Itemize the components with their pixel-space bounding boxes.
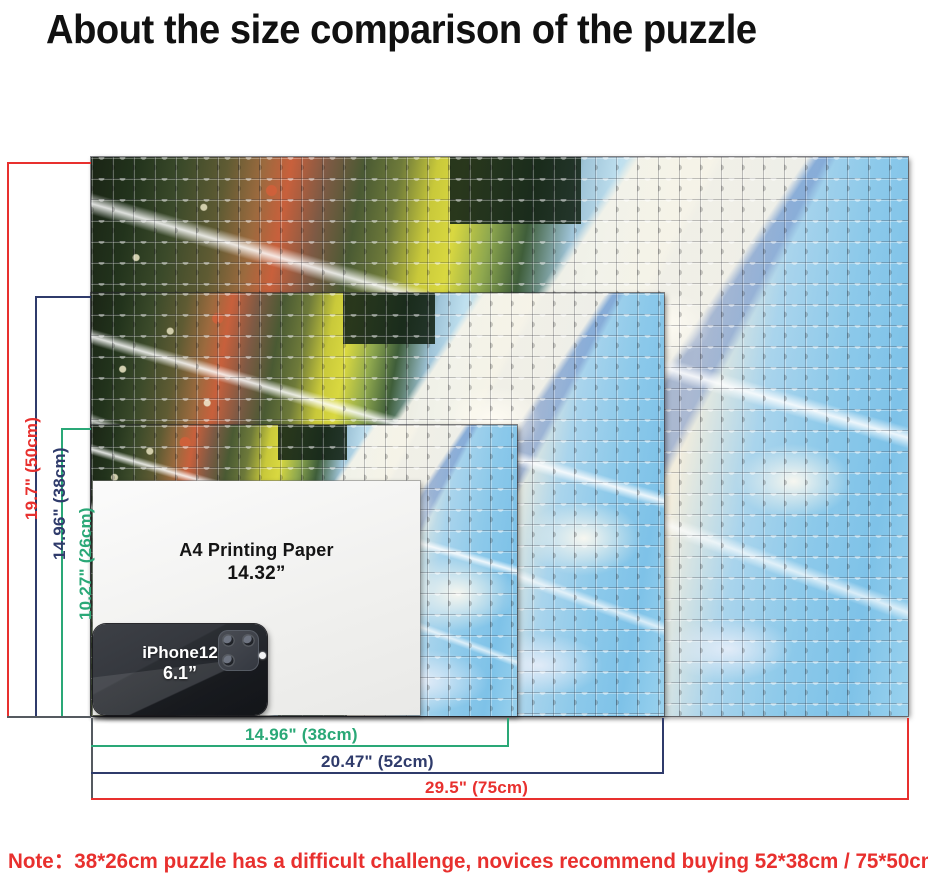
dim-label-width-small: 14.96" (38cm)	[245, 725, 358, 745]
dim-label-height-large: 19.7" (50cm)	[22, 417, 42, 520]
iphone-name: iPhone12	[142, 643, 218, 662]
iphone-size: 6.1”	[93, 663, 267, 684]
a4-paper-size: 14.32”	[93, 562, 420, 585]
dim-vertical-medium-tick-top	[35, 296, 91, 298]
a4-paper-label: A4 Printing Paper 14.32”	[93, 539, 420, 585]
note-text: Note：38*26cm puzzle has a difficult chal…	[8, 845, 910, 875]
dim-horizontal-large-tick-right	[907, 718, 909, 800]
size-comparison-infographic: About the size comparison of the puzzle …	[0, 0, 928, 882]
page-title: About the size comparison of the puzzle	[46, 4, 846, 54]
dim-horizontal-small-line	[91, 745, 509, 747]
iphone-label: iPhone12 6.1”	[93, 642, 267, 684]
dim-vertical-small-tick-top	[61, 428, 91, 430]
a4-paper-name: A4 Printing Paper	[179, 540, 333, 560]
dim-vertical-large-tick-top	[7, 162, 91, 164]
dim-horizontal-small-tick-right	[507, 718, 509, 747]
dim-horizontal-large-line	[91, 798, 909, 800]
dim-horizontal-baseline	[91, 718, 93, 800]
dim-label-width-medium: 20.47" (52cm)	[321, 752, 434, 772]
dim-label-height-small: 10.27" (26cm)	[76, 507, 96, 620]
iphone-mockup: iPhone12 6.1”	[93, 624, 267, 715]
dim-horizontal-medium-line	[91, 772, 664, 774]
dim-vertical-baseline	[7, 716, 91, 718]
dim-label-height-medium: 14.96" (38cm)	[50, 447, 70, 560]
dim-vertical-large-line	[7, 162, 9, 718]
dim-horizontal-medium-tick-right	[662, 718, 664, 774]
dim-label-width-large: 29.5" (75cm)	[425, 778, 528, 798]
